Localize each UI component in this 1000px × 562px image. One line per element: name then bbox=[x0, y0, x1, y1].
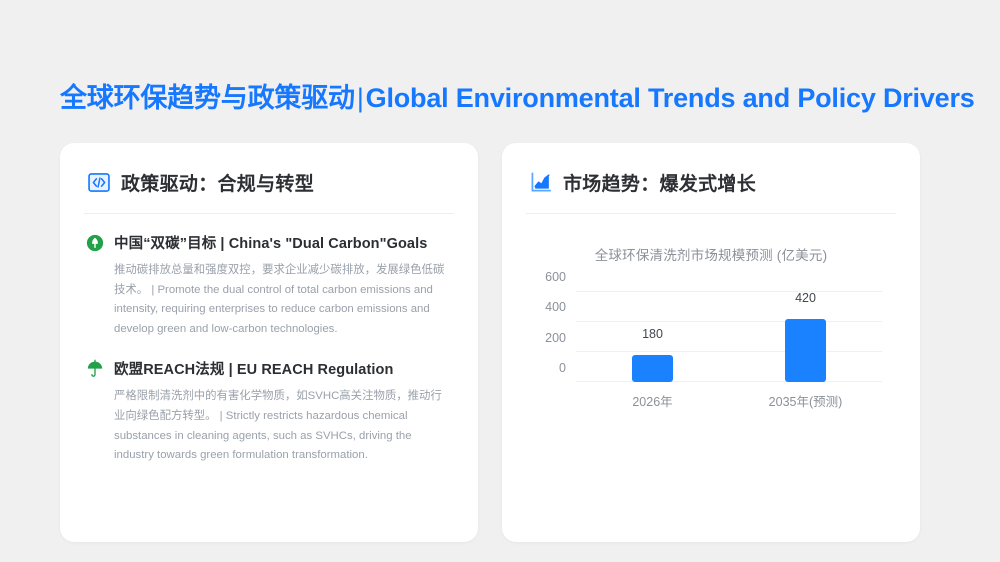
chart-x-tick-label: 2035年(预测) bbox=[769, 391, 843, 410]
card-title-right: 市场趋势：爆发式增长 bbox=[563, 169, 756, 196]
chart-bar bbox=[632, 355, 673, 382]
list-item-description: 严格限制清洗剂中的有害化学物质，如SVHC高关注物质，推动行业向绿色配方转型。 … bbox=[86, 387, 446, 465]
chart-gridline: 200 bbox=[576, 351, 882, 352]
code-icon bbox=[88, 173, 110, 192]
market-trends-card: 市场趋势：爆发式增长 全球环保清洗剂市场规模预测 (亿美元) 600400200… bbox=[502, 143, 920, 542]
chart-y-tick-label: 400 bbox=[545, 300, 566, 314]
policy-drivers-card: 政策驱动：合规与转型 中国“双碳”目标 | China's "Dual Carb… bbox=[60, 143, 478, 542]
page-title-separator: | bbox=[355, 83, 366, 113]
page-title-cn: 全球环保趋势与政策驱动 bbox=[60, 83, 355, 113]
card-header-right: 市场趋势：爆发式增长 bbox=[502, 143, 920, 196]
chart-bar-value-label: 180 bbox=[642, 327, 663, 341]
chart-gridline: 400 bbox=[576, 321, 882, 322]
list-item-header: 中国“双碳”目标 | China's "Dual Carbon"Goals bbox=[86, 232, 450, 253]
list-item-description: 推动碳排放总量和强度双控，要求企业减少碳排放，发展绿色低碳技术。 | Promo… bbox=[86, 261, 446, 339]
list-item: 欧盟REACH法规 | EU REACH Regulation 严格限制清洗剂中… bbox=[86, 358, 450, 465]
area-chart-icon bbox=[530, 172, 552, 193]
chart-gridline: 0 bbox=[576, 381, 882, 382]
chart-plot-area: 60040020001802026年4202035年(预测) bbox=[530, 292, 892, 404]
page-title-en: Global Environmental Trends and Policy D… bbox=[366, 83, 975, 113]
slide-canvas: 全球环保趋势与政策驱动|Global Environmental Trends … bbox=[0, 0, 1000, 562]
list-item-header: 欧盟REACH法规 | EU REACH Regulation bbox=[86, 358, 450, 379]
umbrella-icon bbox=[86, 359, 104, 378]
chart-bar-value-label: 420 bbox=[795, 291, 816, 305]
chart-gridline: 600 bbox=[576, 291, 882, 292]
leaf-circle-icon bbox=[86, 234, 104, 252]
card-header-left: 政策驱动：合规与转型 bbox=[60, 143, 478, 196]
chart-x-tick-label: 2026年 bbox=[632, 391, 672, 410]
list-item-title: 中国“双碳”目标 | China's "Dual Carbon"Goals bbox=[114, 232, 427, 253]
market-size-chart: 全球环保清洗剂市场规模预测 (亿美元) 60040020001802026年42… bbox=[502, 214, 920, 404]
policy-item-list: 中国“双碳”目标 | China's "Dual Carbon"Goals 推动… bbox=[60, 214, 478, 466]
chart-y-tick-label: 0 bbox=[559, 361, 566, 375]
chart-bar bbox=[785, 319, 826, 382]
list-item-title: 欧盟REACH法规 | EU REACH Regulation bbox=[114, 358, 393, 379]
chart-axes: 60040020001802026年4202035年(预测) bbox=[576, 292, 882, 382]
chart-y-tick-label: 600 bbox=[545, 270, 566, 284]
list-item: 中国“双碳”目标 | China's "Dual Carbon"Goals 推动… bbox=[86, 232, 450, 339]
chart-y-tick-label: 200 bbox=[545, 331, 566, 345]
card-title-left: 政策驱动：合规与转型 bbox=[121, 169, 314, 196]
page-title: 全球环保趋势与政策驱动|Global Environmental Trends … bbox=[60, 78, 975, 118]
chart-title: 全球环保清洗剂市场规模预测 (亿美元) bbox=[502, 244, 920, 264]
